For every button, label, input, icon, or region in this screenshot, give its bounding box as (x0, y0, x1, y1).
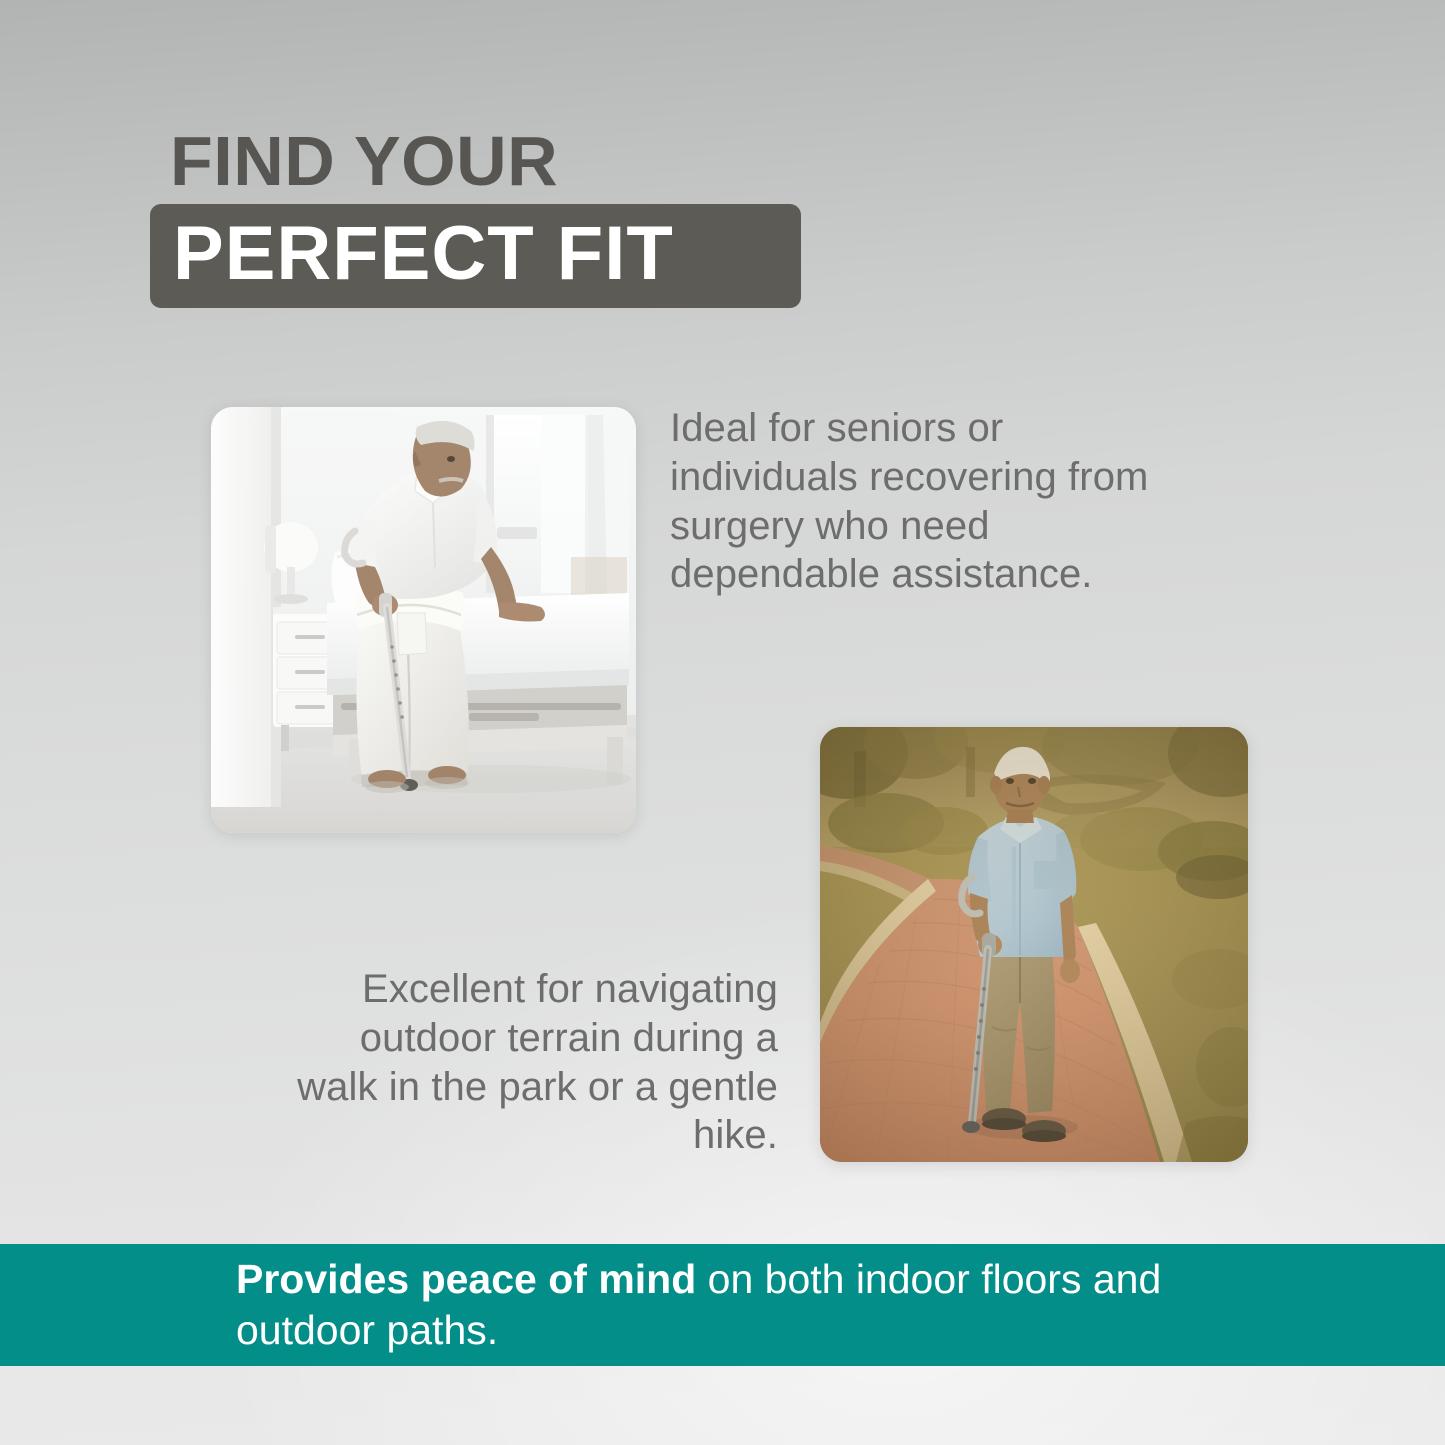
footer-message: Provides peace of mind on both indoor fl… (0, 1254, 1445, 1356)
copy-indoor-use-case: Ideal for seniors or individuals recover… (670, 404, 1170, 599)
footer-banner: Provides peace of mind on both indoor fl… (0, 1244, 1445, 1366)
poster-canvas: FIND YOUR PERFECT FIT (0, 0, 1445, 1445)
photo-senior-outdoor-walk-crutch (820, 727, 1248, 1162)
headline-line-1: FIND YOUR (170, 126, 558, 196)
headline-badge: PERFECT FIT (150, 204, 801, 308)
photo-senior-indoor-bed-crutch (211, 407, 636, 833)
indoor-scene-illustration (211, 407, 636, 833)
outdoor-scene-illustration (820, 727, 1248, 1162)
headline-line-2: PERFECT FIT (150, 216, 674, 292)
footer-bold-lead: Provides peace of mind (236, 1256, 696, 1302)
copy-outdoor-use-case: Excellent for navigating outdoor terrain… (288, 965, 778, 1160)
